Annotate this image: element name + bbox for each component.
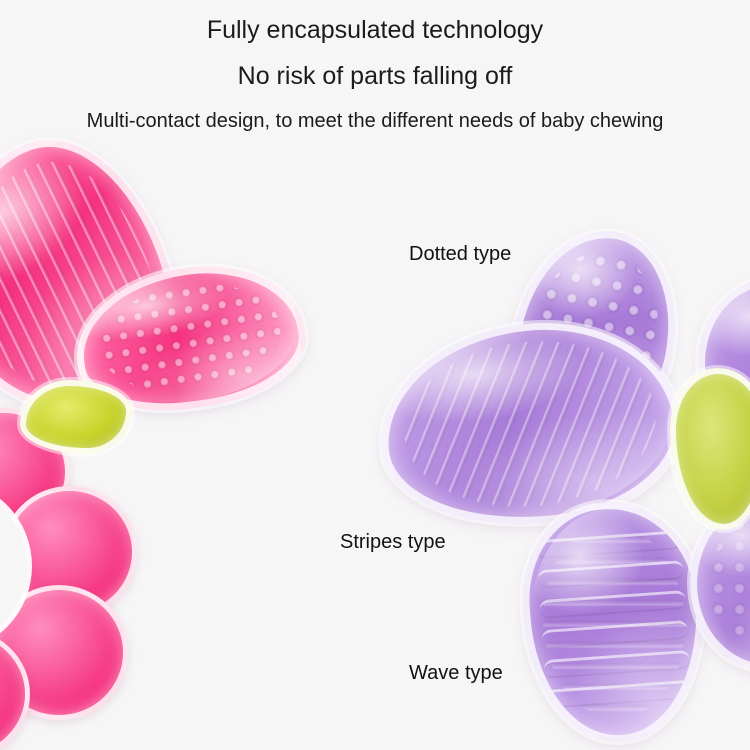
wave-ridge: [537, 560, 684, 589]
headline-secondary: No risk of parts falling off: [0, 62, 750, 91]
dot-texture: [93, 273, 287, 403]
wave-ridge: [546, 680, 693, 709]
pink-teether-flower-center: [20, 380, 132, 454]
petal-gloss: [523, 503, 704, 740]
wave-ridge: [543, 650, 690, 679]
pink-flower-teether: [0, 130, 280, 750]
headline-primary: Fully encapsulated technology: [0, 16, 750, 45]
purple-wave-petal: [516, 496, 712, 748]
stripe-texture: [396, 329, 663, 518]
wave-ridge: [539, 590, 686, 619]
purple-teether-flower-center: [670, 368, 750, 530]
wave-ridge: [535, 530, 682, 559]
dot-texture: [708, 516, 750, 651]
callout-wave-type: Wave type: [409, 662, 503, 685]
headline-tertiary: Multi-contact design, to meet the differ…: [0, 110, 750, 133]
wave-ridge: [541, 620, 688, 649]
product-infographic: Fully encapsulated technology No risk of…: [0, 0, 750, 750]
wave-texture: [536, 520, 692, 724]
callout-stripes-type: Stripes type: [340, 531, 446, 554]
callout-dotted-type: Dotted type: [409, 243, 511, 266]
